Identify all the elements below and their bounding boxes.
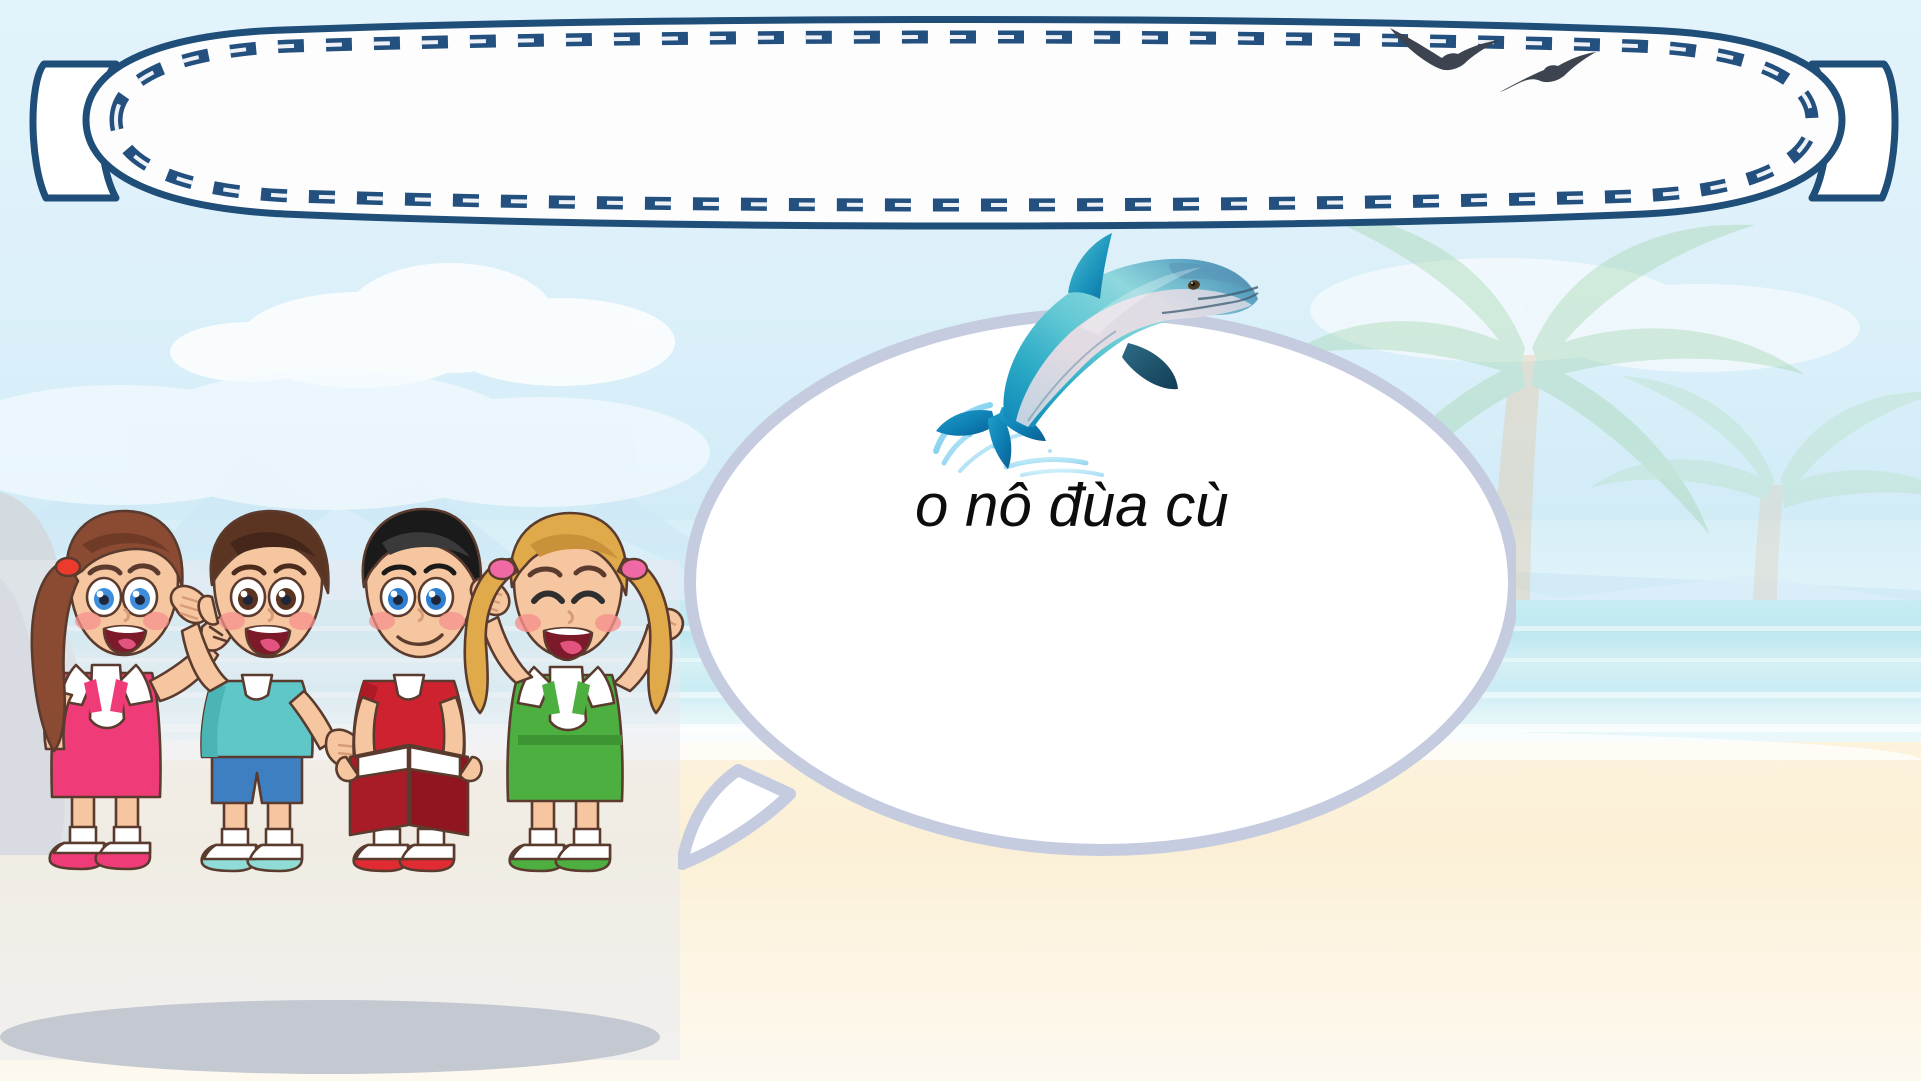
dolphin	[930, 215, 1260, 480]
ground-shadow-ellipse	[0, 1000, 660, 1074]
open-book	[350, 745, 468, 835]
title-banner[interactable]	[24, 12, 1904, 237]
slide-canvas: .ol{stroke:#5a3b2e;stroke-width:2.6;stro…	[0, 0, 1921, 1081]
child-girl-brown-ponytail	[32, 511, 233, 869]
child-boy-teal-shirt	[171, 511, 361, 871]
bird-silhouettes	[1380, 14, 1610, 124]
child-boy-red-shirt-book	[336, 509, 485, 871]
children-group: .ol{stroke:#5a3b2e;stroke-width:2.6;stro…	[20, 505, 700, 881]
child-girl-blonde-pigtails	[465, 513, 683, 871]
speech-bubble-text: o nô đùa cù	[915, 470, 1515, 542]
